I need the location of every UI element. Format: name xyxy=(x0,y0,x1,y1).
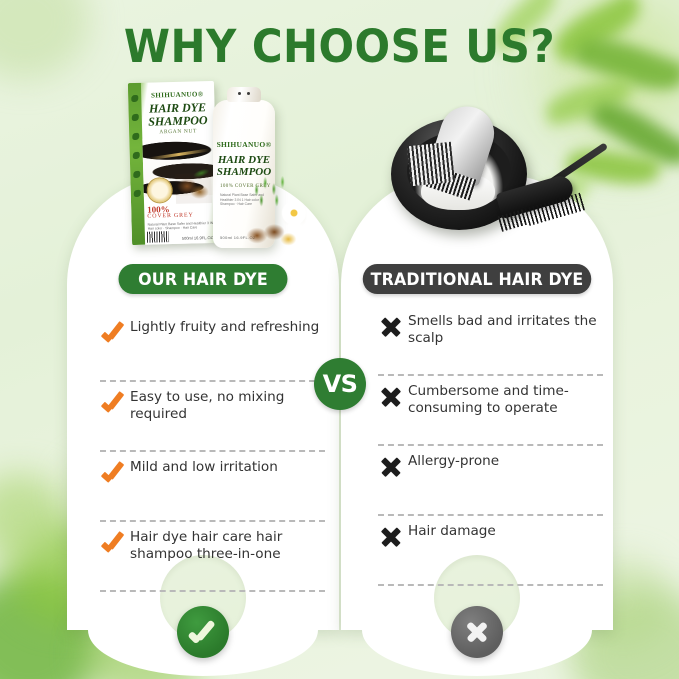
vs-badge: VS xyxy=(314,358,366,410)
bottle-name-line1: HAIR DYE xyxy=(218,154,270,166)
cross-icon xyxy=(378,314,408,340)
list-item-label: Smells bad and irritates the scalp xyxy=(408,312,603,347)
cross-icon xyxy=(378,384,408,410)
list-item-label: Easy to use, no mixing required xyxy=(130,388,325,423)
leaf-icon xyxy=(588,93,679,175)
list-item: Hair dye hair care hair shampoo three-in… xyxy=(100,528,325,592)
feature-list-ours: Lightly fruity and refreshing Easy to us… xyxy=(100,318,325,598)
check-icon xyxy=(100,320,130,346)
list-item: Mild and low irritation xyxy=(100,458,325,522)
list-item-label: Mild and low irritation xyxy=(130,458,278,476)
list-item: Hair damage xyxy=(378,522,603,586)
carton-variant: ARGAN NUT xyxy=(144,128,212,136)
feature-list-traditional: Smells bad and irritates the scalp Cumbe… xyxy=(378,312,603,592)
list-item: Easy to use, no mixing required xyxy=(100,388,325,452)
check-icon xyxy=(100,390,130,416)
bottle-brand: SHIHUANUO® xyxy=(213,140,275,149)
page-title: WHY CHOOSE US? xyxy=(24,20,655,73)
carton-product-name: HAIR DYE SHAMPOO xyxy=(143,101,212,129)
banner-traditional-hair-dye: TRADITIONAL HAIR DYE xyxy=(363,264,591,294)
tint-applicator-brush-icon xyxy=(427,99,501,186)
leaf-icon xyxy=(543,76,636,126)
verdict-badge-negative xyxy=(451,606,503,658)
list-item-label: Lightly fruity and refreshing xyxy=(130,318,319,336)
list-item: Allergy-prone xyxy=(378,452,603,516)
list-item-label: Hair damage xyxy=(408,522,496,540)
carton-brand: SHIHUANUO® xyxy=(143,90,211,100)
list-item: Smells bad and irritates the scalp xyxy=(378,312,603,376)
list-item-label: Cumbersome and time-consuming to operate xyxy=(408,382,603,417)
cross-icon xyxy=(465,620,489,644)
check-icon xyxy=(100,530,130,556)
cross-icon xyxy=(378,524,408,550)
banner-our-hair-dye: OUR HAIR DYE xyxy=(119,264,288,294)
check-icon xyxy=(189,620,219,644)
carton-name-line2: SHAMPOO xyxy=(148,113,208,129)
leaf-icon xyxy=(565,144,661,190)
list-item: Lightly fruity and refreshing xyxy=(100,318,325,382)
cross-icon xyxy=(378,454,408,480)
list-item: Cumbersome and time-consuming to operate xyxy=(378,382,603,446)
carton-name-line1: HAIR DYE xyxy=(149,100,206,115)
foliage-blur-bottom-left xyxy=(0,473,66,561)
verdict-badge-positive xyxy=(177,606,229,658)
list-item-label: Allergy-prone xyxy=(408,452,499,470)
check-icon xyxy=(100,460,130,486)
list-item-label: Hair dye hair care hair shampoo three-in… xyxy=(130,528,325,563)
bottle-cap xyxy=(227,87,261,102)
